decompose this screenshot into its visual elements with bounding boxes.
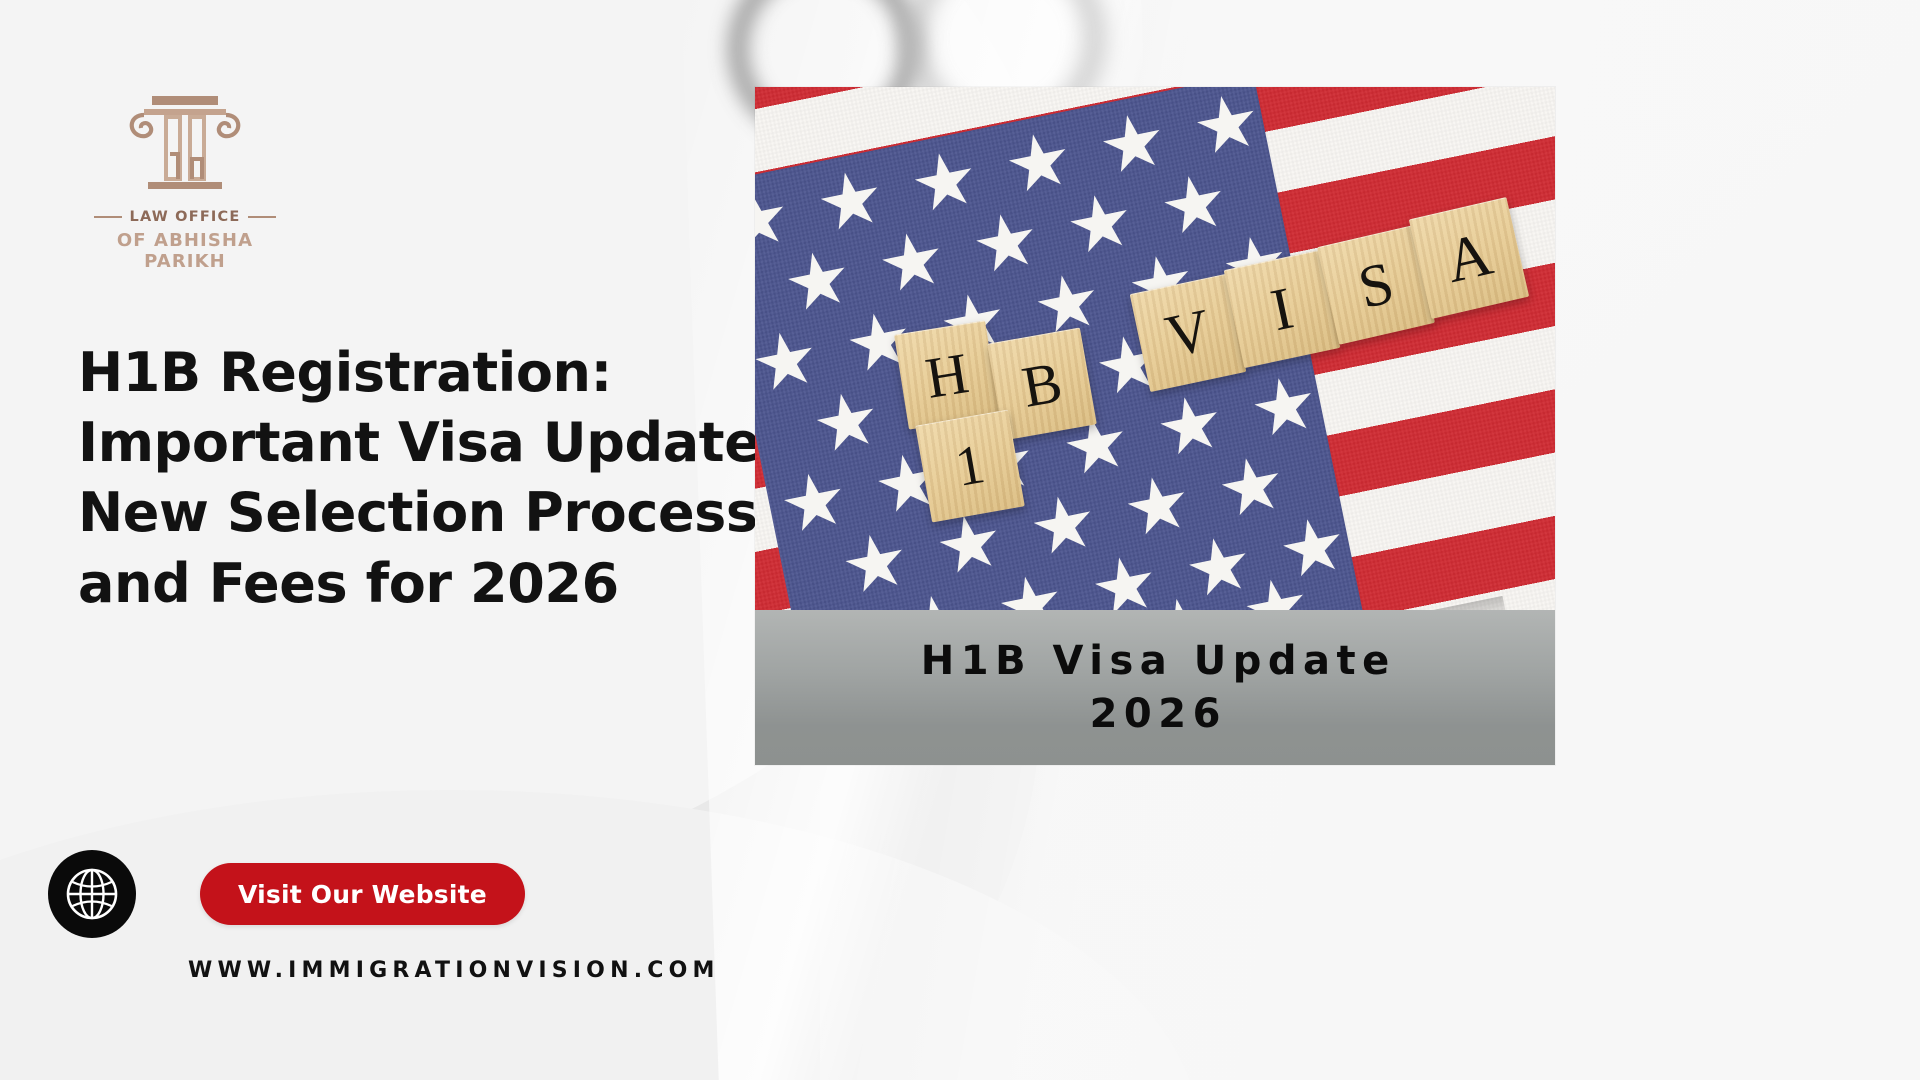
brand-logo: LAW OFFICE OF ABHISHA PARIKH bbox=[80, 92, 290, 272]
photo-image: H B 1 V I S A bbox=[755, 87, 1555, 610]
logo-rule-right bbox=[248, 216, 276, 218]
logo-line-primary: LAW OFFICE bbox=[80, 209, 290, 225]
caption-line-1: H1B Visa Update bbox=[914, 637, 1395, 686]
website-url-text: WWW.IMMIGRATIONVISION.COM bbox=[188, 958, 720, 983]
caption-line-2: 2026 bbox=[1083, 690, 1227, 739]
visit-website-button[interactable]: Visit Our Website bbox=[200, 863, 525, 925]
logo-rule-left bbox=[94, 216, 122, 218]
photo-caption-band: H1B Visa Update 2026 bbox=[755, 610, 1555, 765]
logo-text-firm-name: OF ABHISHA PARIKH bbox=[80, 230, 290, 272]
poster-canvas: LAW OFFICE OF ABHISHA PARIKH H1B Registr… bbox=[0, 0, 1920, 1080]
cta-row: Visit Our Website bbox=[48, 850, 525, 938]
photo-card: H B 1 V I S A H1B Visa Update 2026 bbox=[755, 87, 1555, 765]
globe-icon bbox=[62, 864, 122, 924]
tile-letter-1: 1 bbox=[915, 410, 1025, 523]
globe-badge[interactable] bbox=[48, 850, 136, 938]
logo-text-law-office: LAW OFFICE bbox=[130, 209, 241, 225]
ionic-column-icon bbox=[126, 92, 244, 200]
